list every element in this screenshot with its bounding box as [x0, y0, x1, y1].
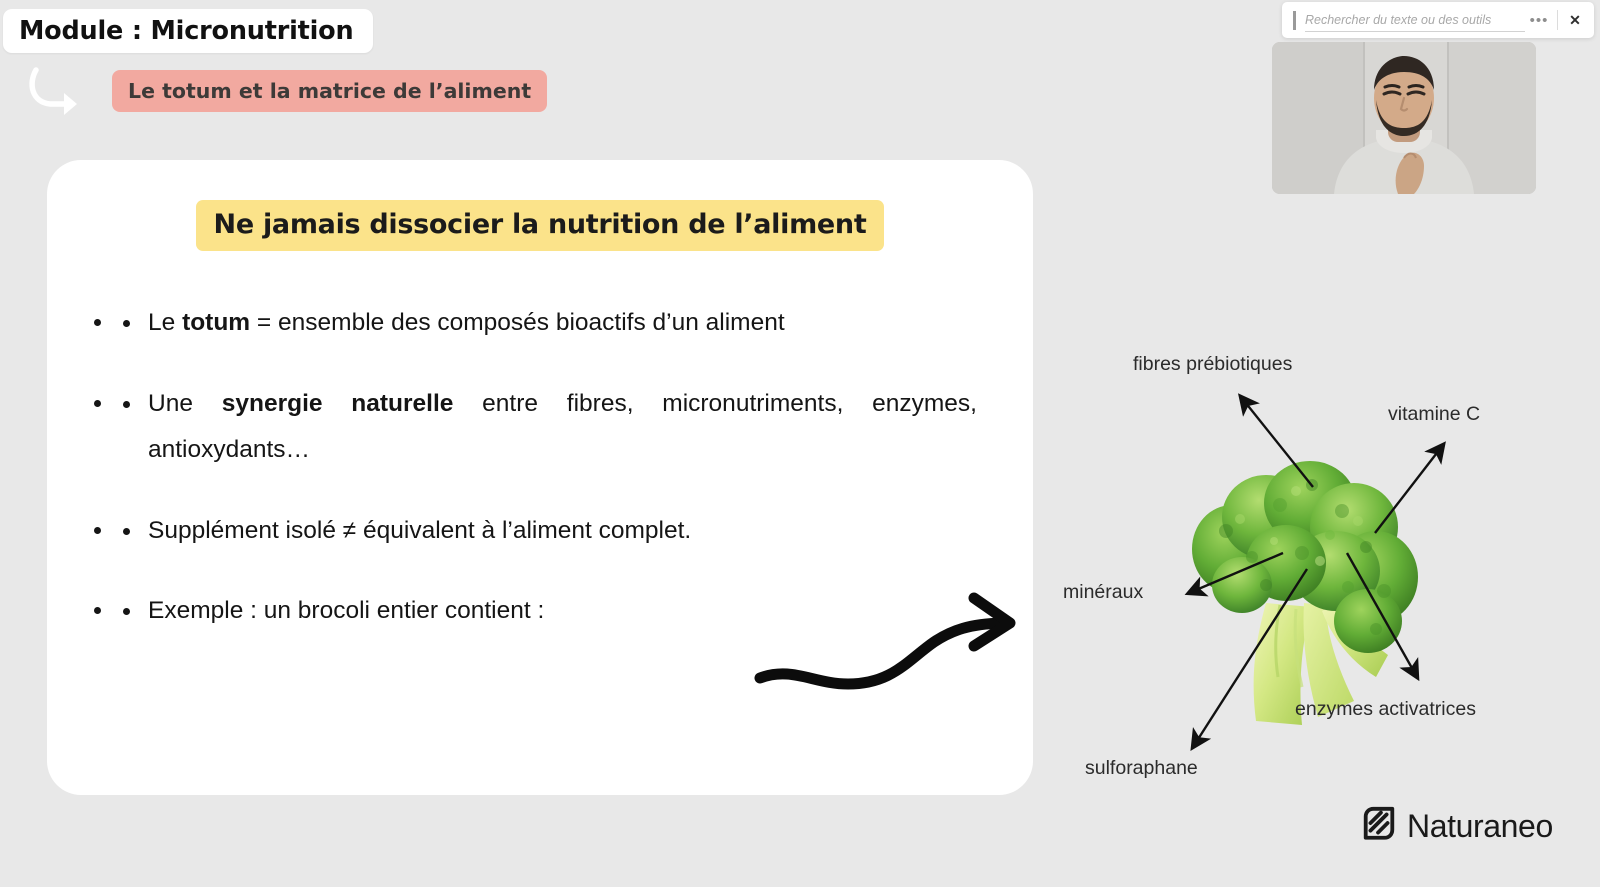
label-vitamine-c: vitamine C	[1388, 403, 1480, 426]
subtitle-pill-label: Le totum et la matrice de l’aliment	[128, 79, 531, 103]
bullet-exemple: Exemple : un brocoli entier contient :	[115, 588, 977, 635]
naturaneo-leaf-mark-icon	[1360, 805, 1398, 848]
subtitle-pill: Le totum et la matrice de l’aliment	[112, 70, 547, 112]
naturaneo-wordmark: Naturaneo	[1407, 808, 1553, 845]
card-heading: Ne jamais dissocier la nutrition de l’al…	[196, 200, 885, 251]
content-card: Ne jamais dissocier la nutrition de l’al…	[47, 160, 1033, 795]
naturaneo-logo: Naturaneo	[1360, 805, 1553, 848]
slide-canvas: Module : Micronutrition Le totum et la m…	[0, 0, 1600, 887]
search-toolbar: ••• ✕	[1282, 2, 1594, 38]
search-input[interactable]	[1305, 8, 1525, 32]
presenter-webcam-tile[interactable]	[1272, 42, 1536, 194]
label-mineraux: minéraux	[1063, 581, 1143, 604]
bullet-supplement: Supplément isolé ≠ équivalent à l’alimen…	[115, 508, 977, 555]
module-badge-label: Module : Micronutrition	[19, 16, 353, 46]
bullet-synergie: Une synergie naturelle entre fibres, mic…	[115, 381, 977, 474]
broccoli-illustration	[1170, 425, 1430, 725]
curved-arrow-right-icon	[20, 62, 94, 116]
module-badge: Module : Micronutrition	[3, 9, 373, 53]
label-fibres-prebiotiques: fibres prébiotiques	[1133, 353, 1292, 376]
toolbar-divider	[1557, 10, 1558, 30]
label-sulforaphane: sulforaphane	[1085, 757, 1198, 780]
broccoli-diagram: fibres prébiotiques vitamine C minéraux …	[1045, 335, 1590, 805]
bullet-totum: Le totum = ensemble des composés bioacti…	[115, 300, 977, 347]
close-icon[interactable]: ✕	[1562, 12, 1588, 29]
text-cursor-icon	[1293, 11, 1296, 30]
label-enzymes-activatrices: enzymes activatrices	[1295, 698, 1476, 721]
bullet-list: Le totum = ensemble des composés bioacti…	[115, 300, 977, 635]
more-options-icon[interactable]: •••	[1525, 12, 1553, 29]
card-heading-wrap: Ne jamais dissocier la nutrition de l’al…	[47, 200, 1033, 251]
